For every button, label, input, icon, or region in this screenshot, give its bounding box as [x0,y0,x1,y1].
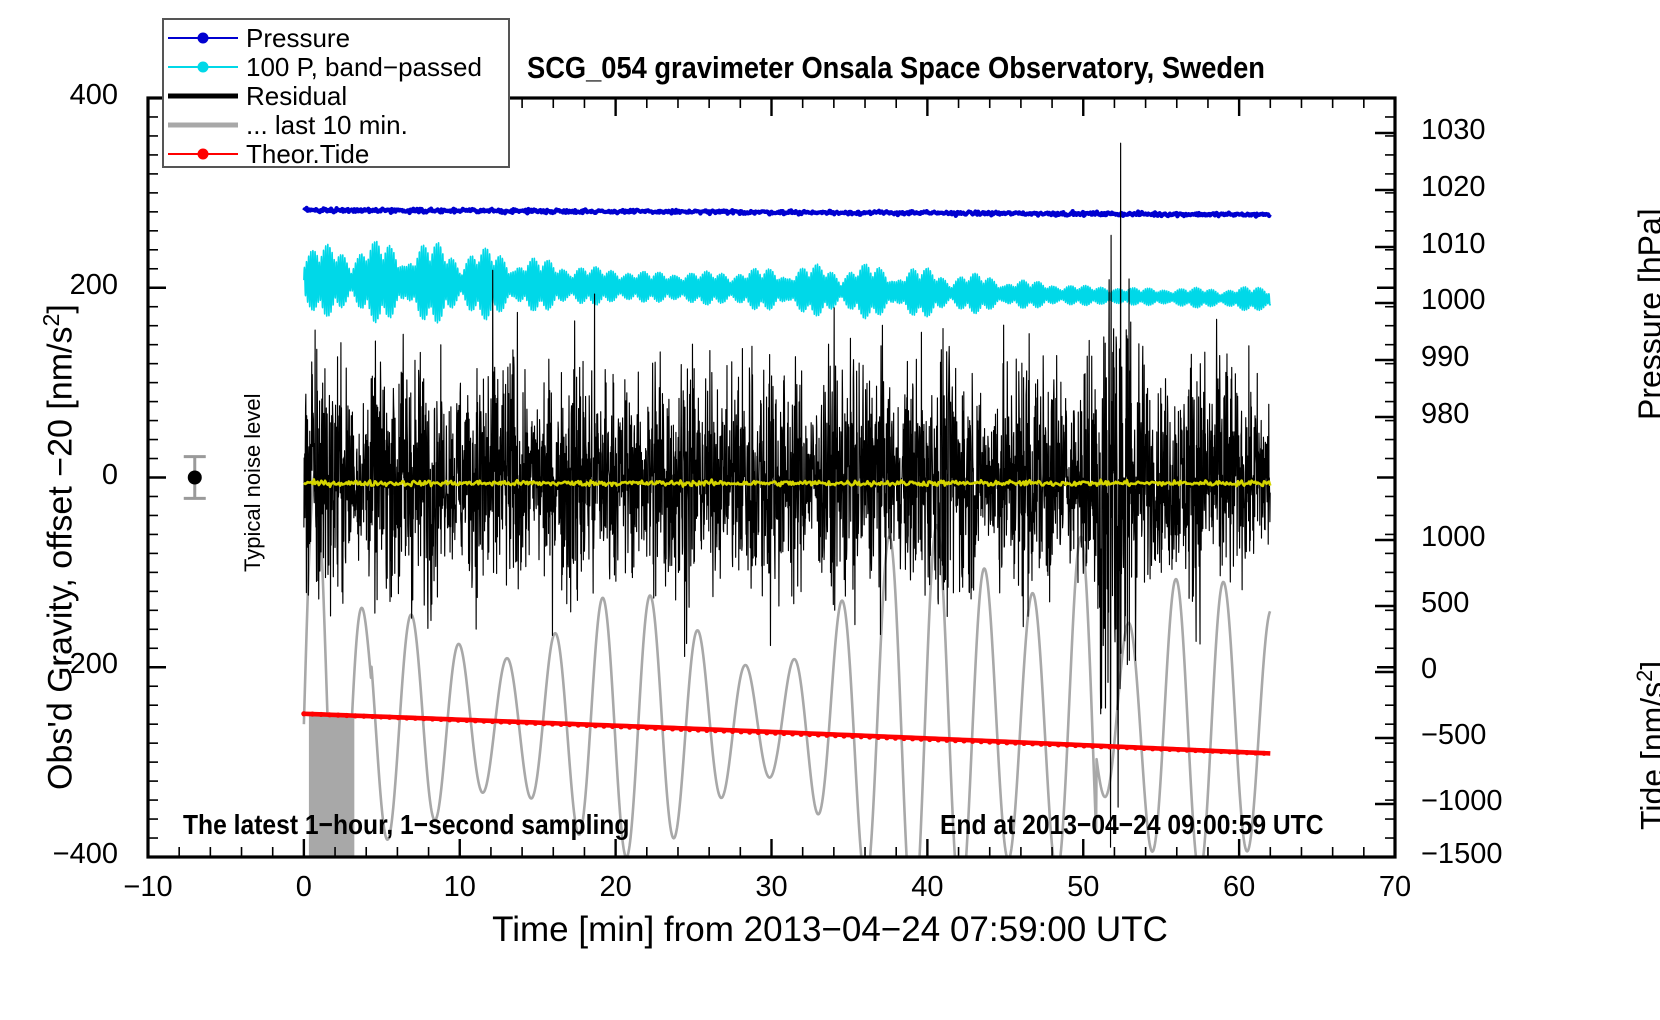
tide-point [301,711,306,716]
legend-item[interactable]: Residual [164,81,508,110]
tide-point [653,726,658,731]
x-tick-label: 70 [1335,871,1455,904]
right-tick-label: 980 [1421,398,1531,431]
tide-point [498,719,503,724]
tide-point [533,721,538,726]
right-tick-label: 1020 [1421,171,1531,204]
legend-swatch-icon [164,82,242,110]
tide-point [361,714,366,719]
tide-point [1150,746,1155,751]
tide-point [318,712,323,717]
x-tick-label: 40 [867,871,987,904]
tide-point [558,722,563,727]
tide-point [1253,750,1258,755]
tide-point [473,718,478,723]
tide-point [601,724,606,729]
tide-point [593,723,598,728]
tide-point [1081,743,1086,748]
tide-point [816,732,821,737]
tide-point [644,725,649,730]
legend-item-label: Theor.Tide [242,141,369,167]
tide-point [1116,745,1121,750]
annotation-bottom-left: The latest 1−hour, 1−second sampling [183,809,629,841]
tide-point [670,726,675,731]
tide-point [730,729,735,734]
tide-point [584,723,589,728]
tide-point [773,731,778,736]
tide-point [721,728,726,733]
x-tick-label: 20 [556,871,676,904]
legend-item[interactable]: Pressure [164,23,508,52]
legend-line-icon [168,122,238,127]
tide-point [576,722,581,727]
legend-item[interactable]: 100 P, band−passed [164,52,508,81]
tide-point [1159,746,1164,751]
tide-point [336,713,341,718]
tide-point [490,719,495,724]
tide-point [678,727,683,732]
tide-point [756,730,761,735]
legend-item-label: Pressure [242,25,350,51]
legend-marker-dot-icon [198,61,209,72]
right-tick-label: 1030 [1421,114,1531,147]
tide-point [901,736,906,741]
tide-point [396,715,401,720]
legend: Pressure100 P, band−passedResidual... la… [162,18,510,168]
right-tick-label: 0 [1421,653,1531,686]
tide-point [1219,749,1224,754]
tide-point [919,737,924,742]
tide-point [310,711,315,716]
tide-point [1013,740,1018,745]
tide-point [327,712,332,717]
tide-point [413,716,418,721]
right-axis-tide-title: Tide [nm/s2] [1632,661,1660,830]
noise-marker-dot [188,471,202,485]
legend-item-label: ... last 10 min. [242,112,408,138]
tide-point [1047,742,1052,747]
legend-swatch-icon [164,111,242,139]
tide-point [713,728,718,733]
y-tick-label: 200 [0,269,118,302]
tide-point [430,716,435,721]
legend-swatch-icon [164,24,242,52]
x-tick-label: 60 [1179,871,1299,904]
tide-point [1124,745,1129,750]
tide-point [1261,751,1266,756]
tide-point [781,731,786,736]
tide-point [841,733,846,738]
tide-point [550,721,555,726]
tide-point [1030,741,1035,746]
right-axis-pressure-title: Pressure [hPa] [1632,208,1660,420]
tide-point [1167,747,1172,752]
tide-point [807,732,812,737]
tide-point [378,714,383,719]
tide-point [1021,741,1026,746]
right-tick-label: −1500 [1421,838,1531,871]
tide-point [1176,747,1181,752]
tide-point [953,738,958,743]
x-tick-label: 50 [1023,871,1143,904]
right-tick-label: 1010 [1421,228,1531,261]
legend-item-label: Residual [242,83,347,109]
tide-point [661,726,666,731]
tide-point [524,720,529,725]
tide-point [481,719,486,724]
tide-point [1244,750,1249,755]
tide-point [824,733,829,738]
right-tick-label: 1000 [1421,521,1531,554]
tide-point [344,713,349,718]
right-tick-label: 1000 [1421,284,1531,317]
tide-point [421,716,426,721]
tide-point [859,734,864,739]
page-title: SCG_054 gravimeter Onsala Space Observat… [527,50,1265,86]
legend-item-label: 100 P, band−passed [242,54,482,80]
tide-point [456,718,461,723]
tide-point [936,737,941,742]
tide-point [447,717,452,722]
tide-point [876,735,881,740]
x-tick-label: 0 [244,871,364,904]
tide-point [1227,749,1232,754]
tide-point [567,722,572,727]
tide-point [884,735,889,740]
series-band-passed [304,242,1270,323]
tide-point [927,737,932,742]
annotation-bottom-right: End at 2013−04−24 09:00:59 UTC [940,809,1324,841]
legend-marker-dot-icon [198,148,209,159]
tide-point [987,739,992,744]
y-axis-title: Obs'd Gravity, offset −20 [nm/s2] [38,304,80,790]
tide-point [1039,742,1044,747]
tide-point [979,739,984,744]
tide-point [961,738,966,743]
tide-point [370,714,375,719]
tide-point [893,736,898,741]
tide-point [867,734,872,739]
tide-point [1004,740,1009,745]
tide-point [1056,742,1061,747]
tide-point [996,740,1001,745]
tide-point [799,732,804,737]
tide-point [1236,750,1241,755]
tide-point [850,734,855,739]
right-tick-label: −1000 [1421,785,1531,818]
tide-point [739,729,744,734]
right-tick-label: 990 [1421,341,1531,374]
legend-line-icon [168,93,238,98]
tide-point [387,715,392,720]
legend-item[interactable]: ... last 10 min. [164,110,508,139]
legend-marker-dot-icon [198,32,209,43]
series-pressure [304,208,1270,217]
tide-point [944,738,949,743]
tide-point [833,733,838,738]
x-tick-label: −10 [88,871,208,904]
tide-point [353,713,358,718]
tide-point [910,736,915,741]
tide-point [747,730,752,735]
tide-point [618,724,623,729]
tide-point [636,725,641,730]
right-tick-label: 500 [1421,587,1531,620]
tide-point [764,730,769,735]
tide-point [1141,746,1146,751]
tide-point [1201,748,1206,753]
x-tick-label: 10 [400,871,520,904]
tide-point [1210,749,1215,754]
legend-item[interactable]: Theor.Tide [164,139,508,168]
tide-point [507,720,512,725]
tide-point [704,728,709,733]
x-axis-title: Time [min] from 2013−04−24 07:59:00 UTC [0,910,1660,950]
tide-point [627,725,632,730]
tide-point [438,717,443,722]
x-tick-label: 30 [712,871,832,904]
tide-point [464,718,469,723]
tide-point [1090,744,1095,749]
y-tick-label: 400 [0,79,118,112]
gravimeter-timeseries-figure: −400−2000200400−100102030405060701030102… [0,0,1660,1020]
tide-point [1193,748,1198,753]
tide-point [696,727,701,732]
tide-point [1133,745,1138,750]
series-residual [304,143,1270,847]
tide-point [1073,743,1078,748]
noise-level-label: Typical noise level [240,393,266,572]
y-tick-label: −400 [0,838,118,871]
tide-point [1099,744,1104,749]
tide-point [790,731,795,736]
tide-point [687,727,692,732]
tide-point [516,720,521,725]
tide-point [1184,748,1189,753]
right-tick-label: −500 [1421,719,1531,752]
legend-swatch-icon [164,140,242,168]
tide-point [404,715,409,720]
tide-point [1064,743,1069,748]
legend-swatch-icon [164,53,242,81]
tide-point [970,739,975,744]
tide-point [1107,744,1112,749]
tide-point [541,721,546,726]
tide-point [610,724,615,729]
